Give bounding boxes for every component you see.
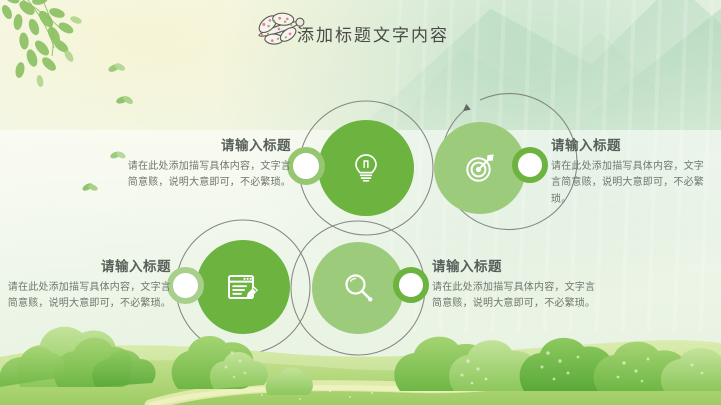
block-heading: 请输入标题 xyxy=(551,138,711,154)
lightbulb-icon xyxy=(349,151,383,185)
falling-leaf-icon xyxy=(116,92,134,108)
falling-leaf-icon xyxy=(108,60,126,76)
block-heading: 请输入标题 xyxy=(432,259,597,275)
foreground-landscape xyxy=(0,287,721,405)
connector-node-2[interactable] xyxy=(512,147,548,183)
diagram-node-1[interactable] xyxy=(318,120,414,216)
connector-node-1[interactable] xyxy=(287,147,325,185)
block-heading: 请输入标题 xyxy=(126,138,291,154)
slide-canvas: 添加标题文字内容 xyxy=(0,0,721,405)
slide-header: 添加标题文字内容 xyxy=(0,0,721,62)
page-title: 添加标题文字内容 xyxy=(297,21,449,46)
block-heading: 请输入标题 xyxy=(6,259,171,275)
block-body: 请在此处添加描写具体内容，文字言简意赅，说明大意即可，不必繁琐。 xyxy=(126,159,291,191)
text-block-top-right: 请输入标题 请在此处添加描写具体内容，文字言简意赅，说明大意即可，不必繁琐。 xyxy=(551,138,711,208)
text-block-top-left: 请输入标题 请在此处添加描写具体内容，文字言简意赅，说明大意即可，不必繁琐。 xyxy=(126,138,291,192)
falling-leaf-icon xyxy=(82,180,98,194)
target-icon xyxy=(463,151,497,185)
block-body: 请在此处添加描写具体内容，文字言简意赅，说明大意即可，不必繁琐。 xyxy=(551,159,711,208)
falling-leaf-icon xyxy=(110,148,126,162)
